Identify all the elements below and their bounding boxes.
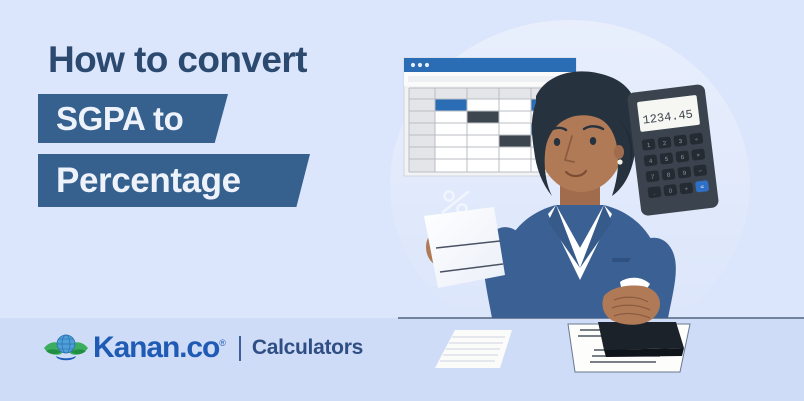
- window-dot-icon: [411, 63, 415, 67]
- cell-dark: [499, 135, 531, 147]
- cell-highlight: [435, 99, 467, 111]
- logo-divider: [239, 336, 241, 361]
- held-paper: [424, 207, 505, 288]
- page-title: How to convert: [48, 41, 307, 80]
- product-label: Calculators: [252, 336, 363, 360]
- spreadsheet-titlebar: [404, 58, 576, 72]
- earring: [617, 159, 622, 164]
- title-band-sgpa: SGPA to: [38, 94, 228, 143]
- desk-calculator: [598, 322, 684, 357]
- title-band-percentage: Percentage: [38, 154, 310, 207]
- window-dot-icon: [418, 63, 422, 67]
- brand-wordmark-text: Kanan.co: [93, 331, 219, 364]
- title-band-sgpa-label: SGPA to: [56, 100, 183, 138]
- brand-wordmark: Kanan.co®: [93, 331, 226, 365]
- cell-dark: [467, 111, 499, 123]
- eye: [554, 138, 560, 146]
- promo-banner: 1234.45: [0, 0, 804, 401]
- eye: [590, 137, 596, 145]
- kanan-globe-wings-icon: [42, 328, 90, 368]
- ear: [614, 145, 624, 159]
- brand-logo[interactable]: Kanan.co® Calculators: [42, 326, 363, 370]
- right-hand: [603, 285, 661, 324]
- window-dot-icon: [425, 63, 429, 67]
- floating-calculator: 1234.45: [627, 84, 720, 217]
- title-band-percentage-label: Percentage: [56, 161, 241, 201]
- registered-mark-icon: ®: [219, 338, 226, 348]
